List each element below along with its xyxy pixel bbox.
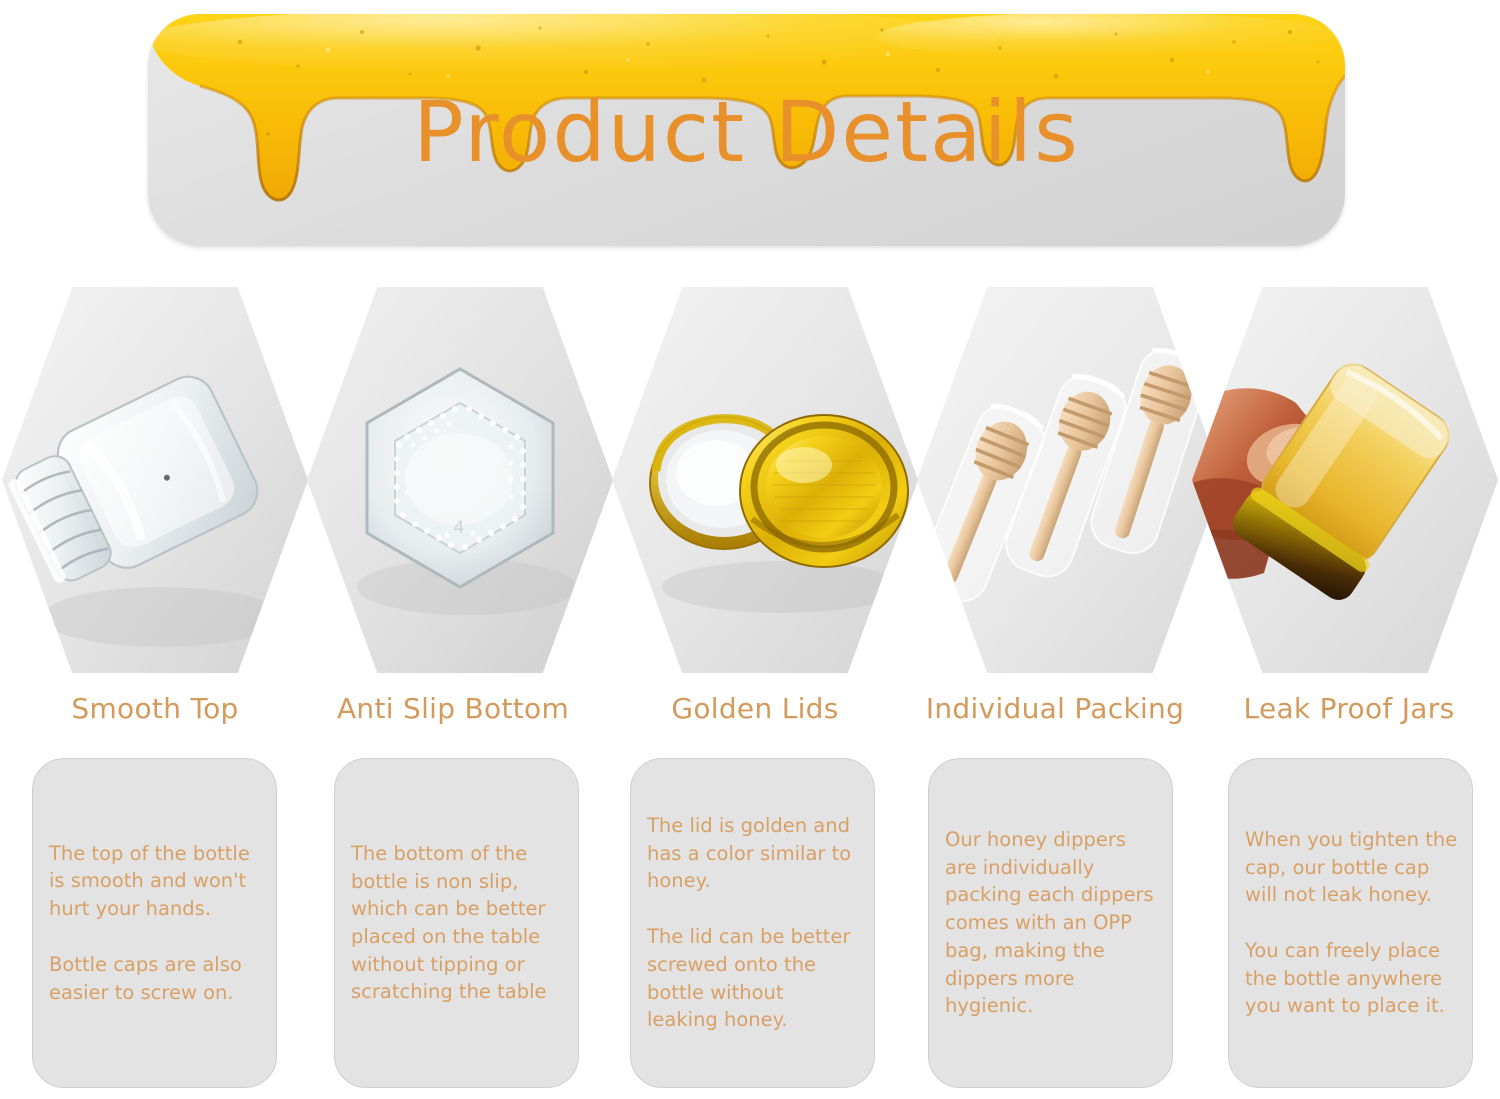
description-paragraph: Bottle caps are also easier to screw on.	[49, 951, 262, 1006]
hexagonal-jar-bottom-photo: 4	[307, 287, 613, 673]
caption-individual-packing: Individual Packing	[902, 692, 1208, 725]
feature-image-golden-lids	[612, 287, 918, 673]
description-paragraph: When you tighten the cap, our bottle cap…	[1245, 826, 1458, 909]
description-panel-anti-slip-bottom: The bottom of the bottle is non slip, wh…	[334, 758, 579, 1088]
description-panel-leak-proof-jars: When you tighten the cap, our bottle cap…	[1228, 758, 1473, 1088]
caption-label: Individual Packing	[926, 692, 1184, 725]
feature-image-row: 4	[0, 287, 1500, 673]
feature-image-smooth-top	[2, 287, 308, 673]
caption-label: Smooth Top	[71, 692, 238, 725]
wrapped-honey-dippers-photo	[917, 287, 1223, 673]
caption-label: Golden Lids	[671, 692, 838, 725]
description-panel-individual-packing: Our honey dippers are individually packi…	[928, 758, 1173, 1088]
description-paragraph: You can freely place the bottle anywhere…	[1245, 937, 1458, 1020]
feature-image-individual-packing	[917, 287, 1223, 673]
caption-golden-lids: Golden Lids	[602, 692, 908, 725]
caption-label: Anti Slip Bottom	[337, 692, 569, 725]
description-paragraph: Our honey dippers are individually packi…	[945, 826, 1158, 1020]
page-title: Product Details	[148, 90, 1345, 174]
feature-image-leak-proof-jars	[1192, 287, 1498, 673]
description-paragraph: The lid is golden and has a color simila…	[647, 812, 860, 895]
clear-glass-jar-threaded-neck-photo	[2, 287, 308, 673]
description-paragraph: The top of the bottle is smooth and won'…	[49, 840, 262, 923]
hand-holding-tilted-honey-jar-photo	[1192, 287, 1498, 673]
caption-label: Leak Proof Jars	[1244, 692, 1455, 725]
feature-description-row: The top of the bottle is smooth and won'…	[0, 758, 1500, 1090]
caption-smooth-top: Smooth Top	[2, 692, 308, 725]
description-panel-smooth-top: The top of the bottle is smooth and won'…	[32, 758, 277, 1088]
description-panel-golden-lids: The lid is golden and has a color simila…	[630, 758, 875, 1088]
feature-caption-row: Smooth Top Anti Slip Bottom Golden Lids …	[0, 692, 1500, 740]
svg-text:4: 4	[454, 518, 465, 538]
description-paragraph: The lid can be better screwed onto the b…	[647, 923, 860, 1034]
description-paragraph: The bottom of the bottle is non slip, wh…	[351, 840, 564, 1006]
two-golden-lids-photo	[612, 287, 918, 673]
feature-image-anti-slip-bottom: 4	[307, 287, 613, 673]
header-banner: Product Details	[148, 14, 1345, 246]
caption-anti-slip-bottom: Anti Slip Bottom	[300, 692, 606, 725]
caption-leak-proof-jars: Leak Proof Jars	[1196, 692, 1500, 725]
